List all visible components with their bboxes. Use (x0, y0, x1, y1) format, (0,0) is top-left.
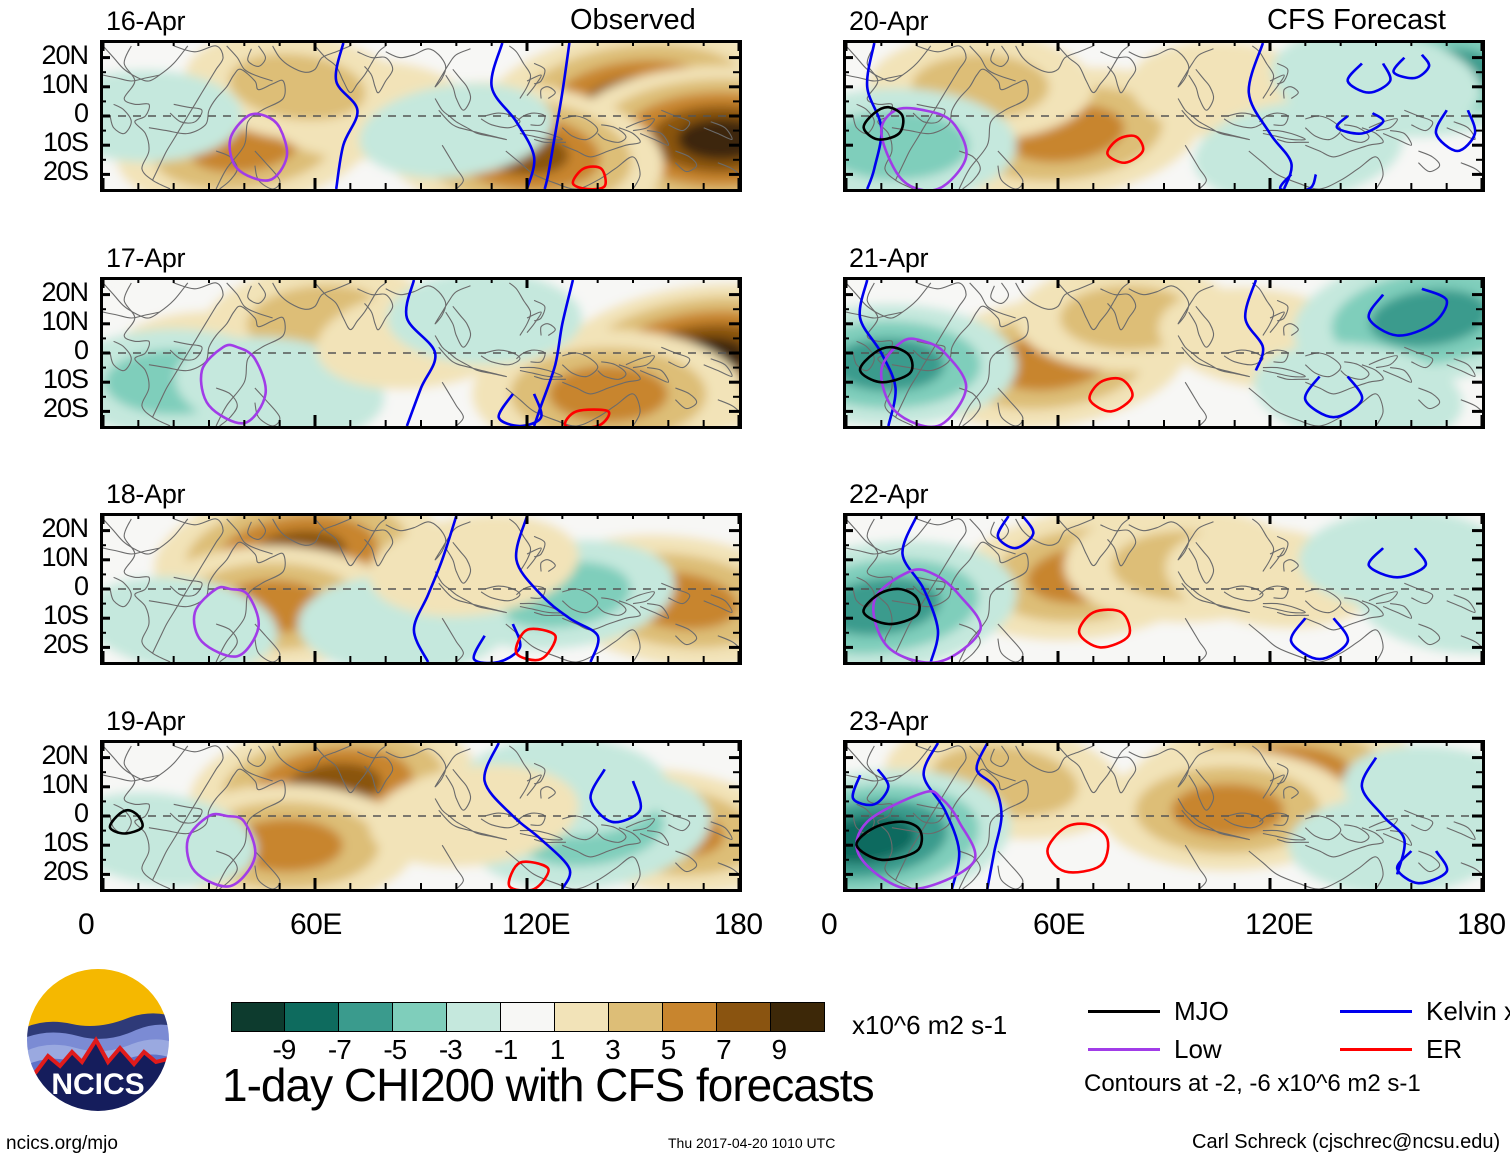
y-axis-label: 20S (0, 631, 88, 658)
author-credit: Carl Schreck (cjschrec@ncsu.edu) (1192, 1132, 1500, 1152)
map-panel-19-apr (100, 740, 742, 892)
y-axis-label: 10S (0, 829, 88, 856)
panel-date-label: 16-Apr (106, 8, 185, 35)
legend-line-low (1088, 1048, 1160, 1051)
map-panel-18-apr (100, 513, 742, 665)
y-axis-label: 10N (0, 544, 88, 571)
contour-note: Contours at -2, -6 x10^6 m2 s-1 (1084, 1072, 1421, 1096)
panel-date-label: 18-Apr (106, 481, 185, 508)
colorbar-segment (716, 1002, 771, 1032)
colorbar-segment (770, 1002, 825, 1032)
colorbar-segment (392, 1002, 447, 1032)
y-axis-label: 10S (0, 366, 88, 393)
legend-label-low: Low (1174, 1036, 1222, 1062)
panel-date-label: 17-Apr (106, 245, 185, 272)
y-axis-label: 10N (0, 71, 88, 98)
colorbar-segment (338, 1002, 393, 1032)
y-axis-label: 20N (0, 42, 88, 69)
y-axis-label: 0 (0, 573, 88, 600)
legend-line-mjo (1088, 1010, 1160, 1013)
page-title: 1-day CHI200 with CFS forecasts (222, 1062, 874, 1108)
y-axis-label: 10N (0, 308, 88, 335)
timestamp: Thu 2017-04-20 1010 UTC (668, 1136, 835, 1150)
panel-date-label: 20-Apr (849, 8, 928, 35)
y-axis-label: 10S (0, 129, 88, 156)
x-axis-label: 60E (1033, 910, 1085, 940)
panel-date-label: 21-Apr (849, 245, 928, 272)
x-axis-label: 120E (1245, 910, 1313, 940)
colorbar-segment (446, 1002, 501, 1032)
y-axis-label: 0 (0, 100, 88, 127)
y-axis-label: 20S (0, 158, 88, 185)
y-axis-label: 20N (0, 515, 88, 542)
x-axis-label: 60E (290, 910, 342, 940)
panel-date-label: 23-Apr (849, 708, 928, 735)
x-axis-label: 120E (502, 910, 570, 940)
y-axis-label: 20S (0, 858, 88, 885)
y-axis-label: 0 (0, 800, 88, 827)
column-header-forecast: CFS Forecast (1267, 6, 1446, 35)
column-header-observed: Observed (570, 6, 696, 35)
colorbar-segment (608, 1002, 663, 1032)
legend-line-kelvin-x2 (1340, 1010, 1412, 1013)
map-panel-17-apr (100, 277, 742, 429)
y-axis-label: 10S (0, 602, 88, 629)
map-panel-22-apr (843, 513, 1485, 665)
y-axis-label: 20S (0, 395, 88, 422)
colorbar-segment (231, 1002, 286, 1032)
colorbar-segment (284, 1002, 339, 1032)
y-axis-label: 20N (0, 279, 88, 306)
site-url[interactable]: ncics.org/mjo (6, 1134, 118, 1153)
legend-label-kelvin-x2: Kelvin x2 (1426, 998, 1510, 1024)
map-panel-16-apr (100, 40, 742, 192)
map-panel-20-apr (843, 40, 1485, 192)
colorbar (232, 1002, 842, 1032)
colorbar-segment (662, 1002, 717, 1032)
y-axis-label: 20N (0, 742, 88, 769)
x-axis-label: 0 (821, 910, 837, 940)
legend-label-mjo: MJO (1174, 998, 1229, 1024)
colorbar-segment (554, 1002, 609, 1032)
legend-label-er: ER (1426, 1036, 1462, 1062)
panel-date-label: 19-Apr (106, 708, 185, 735)
logo-text: NCICS (51, 1068, 144, 1101)
x-axis-label: 180 (1457, 910, 1506, 940)
ncics-logo[interactable]: NCICS (24, 966, 172, 1114)
y-axis-label: 10N (0, 771, 88, 798)
y-axis-label: 0 (0, 337, 88, 364)
panel-date-label: 22-Apr (849, 481, 928, 508)
legend-line-er (1340, 1048, 1412, 1051)
x-axis-label: 180 (714, 910, 763, 940)
map-panel-23-apr (843, 740, 1485, 892)
colorbar-units-label: x10^6 m2 s-1 (852, 1012, 1007, 1038)
map-panel-21-apr (843, 277, 1485, 429)
x-axis-label: 0 (78, 910, 94, 940)
colorbar-segment (500, 1002, 555, 1032)
